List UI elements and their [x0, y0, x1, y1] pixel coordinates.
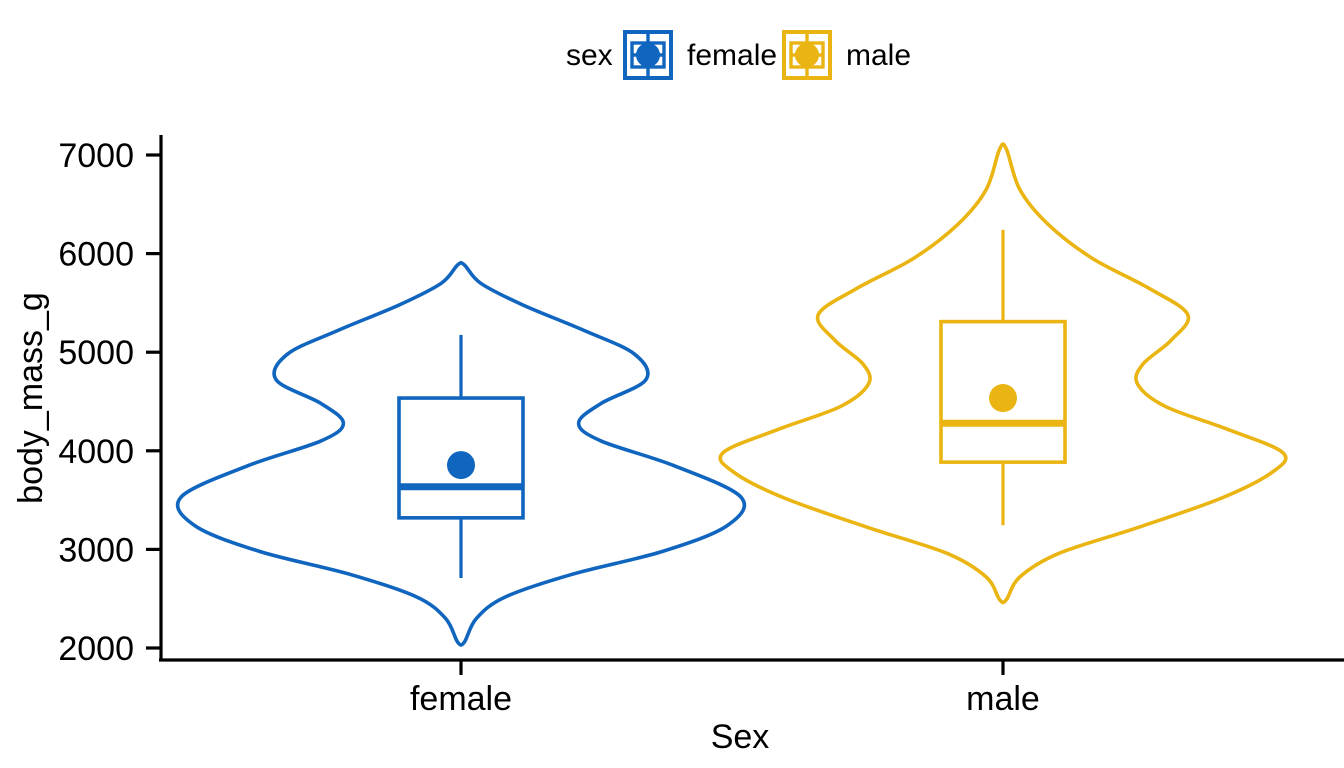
- y-tick-label: 3000: [58, 531, 134, 569]
- y-tick-label: 7000: [58, 137, 134, 175]
- legend-key-male-mean-icon: [795, 43, 819, 67]
- mean-point-male: [989, 384, 1017, 412]
- x-tick-label: female: [410, 680, 512, 718]
- y-tick-label: 2000: [58, 630, 134, 668]
- chart-root: sex female male 200030004000: [0, 0, 1344, 768]
- y-tick-label: 6000: [58, 236, 134, 274]
- legend-label-male: male: [846, 39, 911, 72]
- violin-boxplot-chart: sex female male 200030004000: [0, 0, 1344, 768]
- legend-key-female-mean-icon: [636, 43, 660, 67]
- legend-item-female[interactable]: female: [625, 32, 777, 78]
- legend-label-female: female: [687, 39, 777, 72]
- y-tick-label: 5000: [58, 334, 134, 372]
- legend-title: sex: [566, 39, 613, 72]
- x-axis-title: Sex: [711, 718, 770, 756]
- mean-point-female: [447, 451, 475, 479]
- x-tick-label: male: [966, 680, 1040, 718]
- y-tick-label: 4000: [58, 433, 134, 471]
- chart-background: [0, 0, 1344, 768]
- y-axis-title: body_mass_g: [12, 292, 50, 504]
